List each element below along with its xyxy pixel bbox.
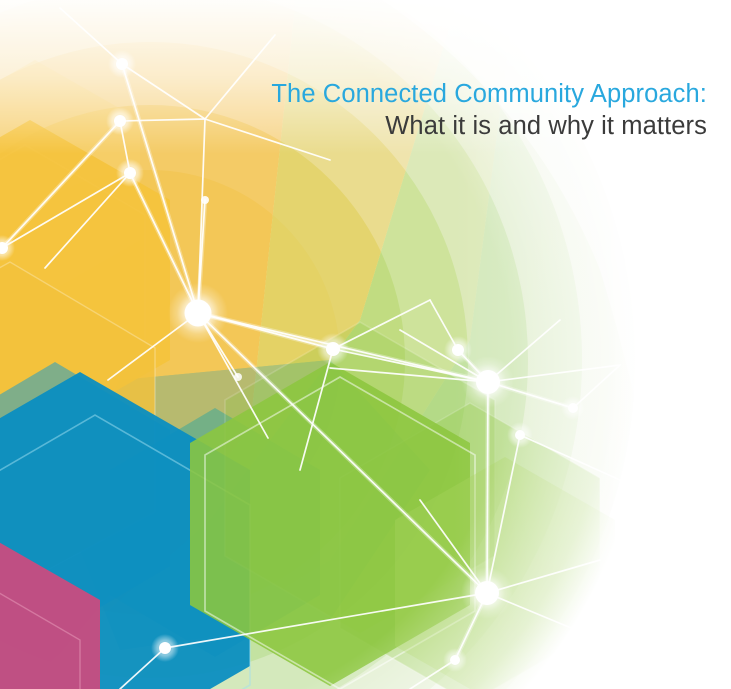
- cover-page: The Connected Community Approach: What i…: [0, 0, 731, 689]
- outer-white-veil: [0, 0, 731, 689]
- connected-community-artwork: [0, 0, 731, 689]
